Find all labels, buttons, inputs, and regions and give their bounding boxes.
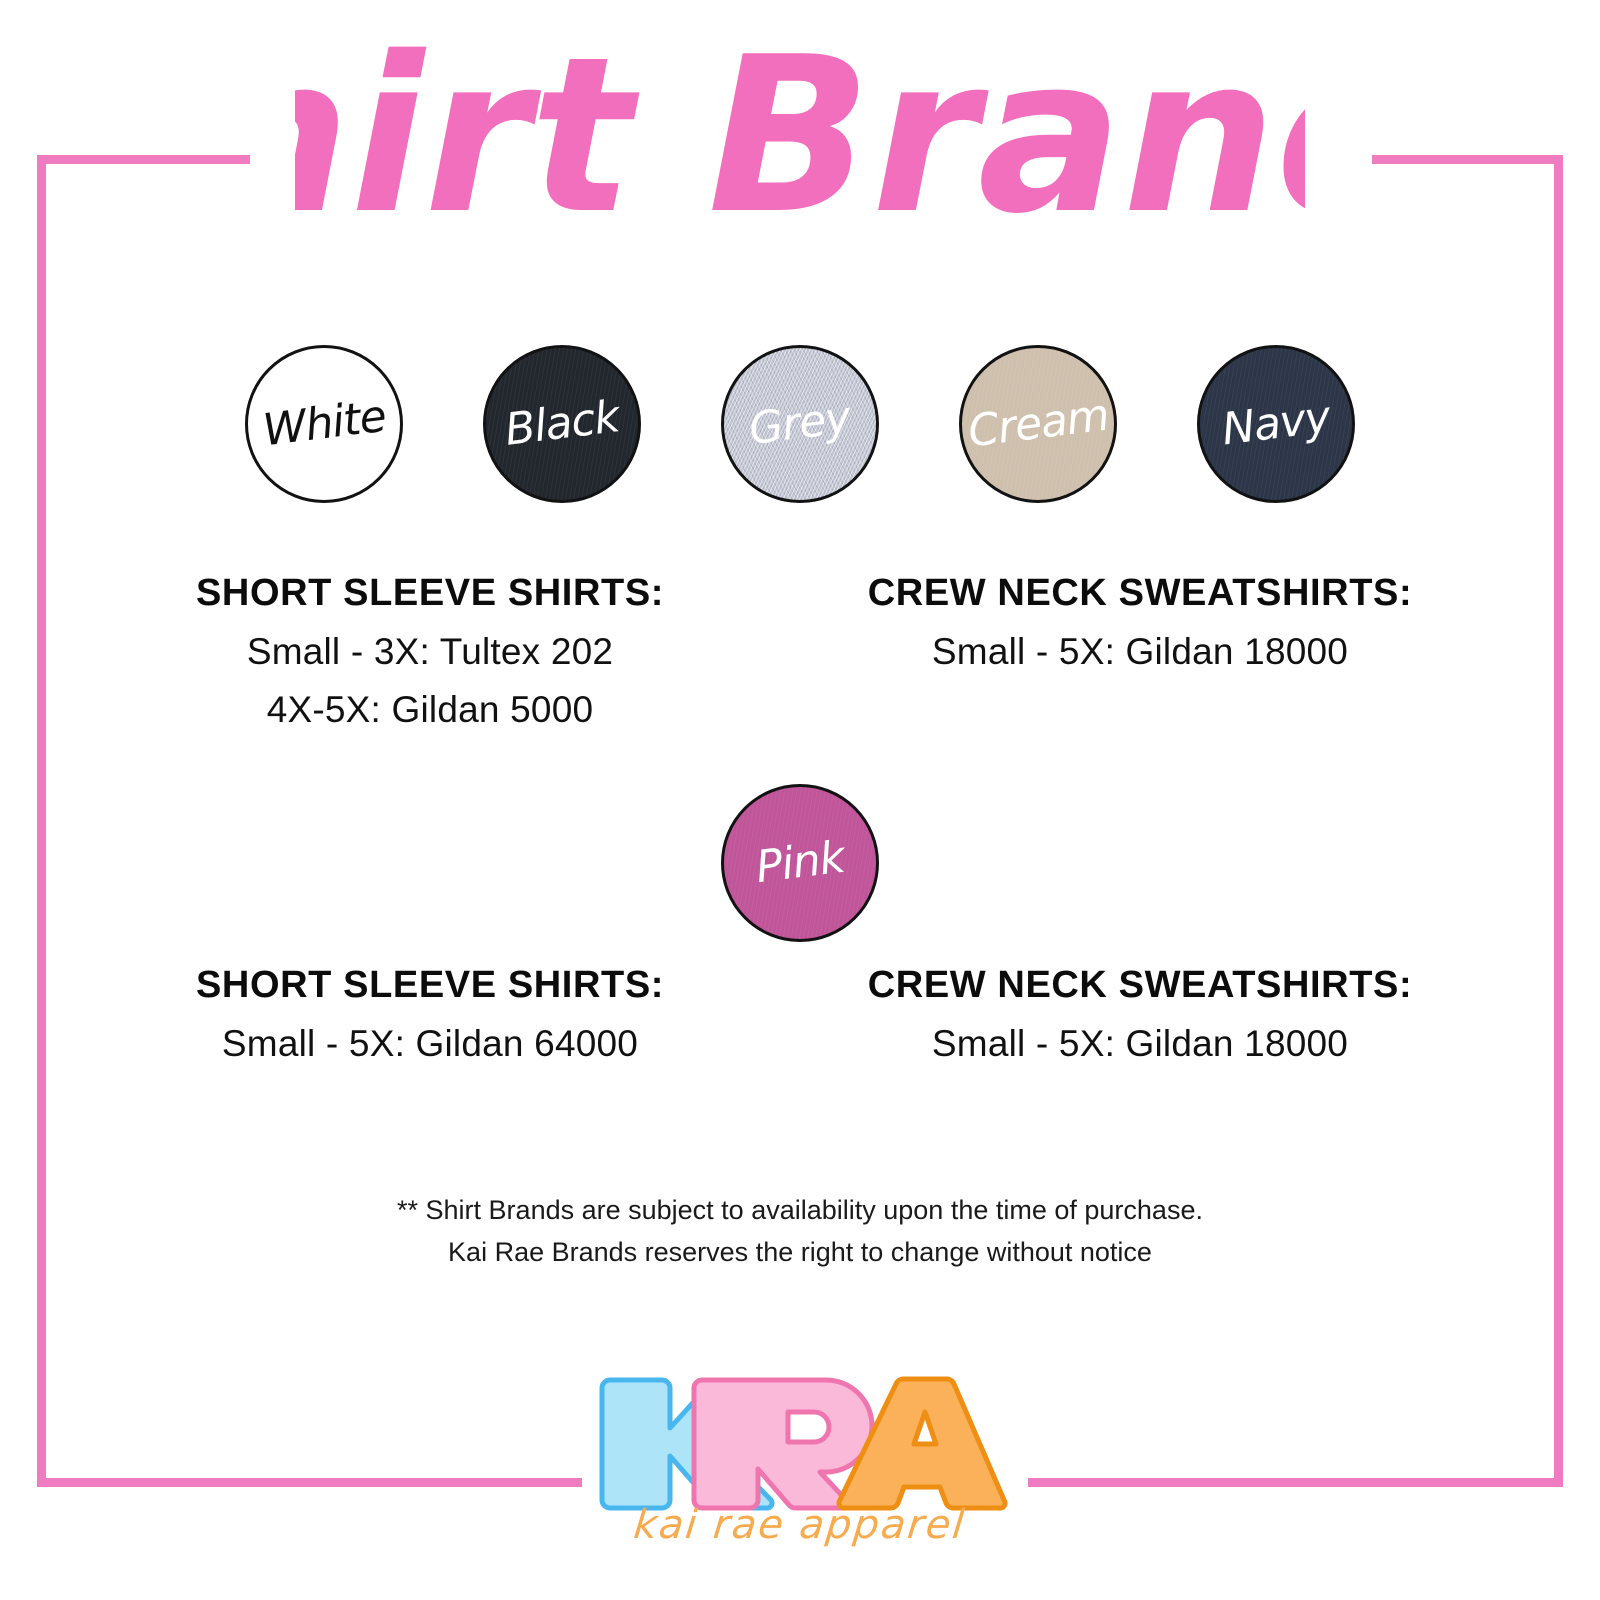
poster-canvas: Shirt Brands White Black Grey Cream Navy… <box>0 0 1600 1600</box>
page-title-text: Shirt Brands <box>295 10 1305 261</box>
short-sleeve-shirts-block-top: SHORT SLEEVE SHIRTS: Small - 3X: Tultex … <box>110 572 750 731</box>
swatch-pink[interactable]: Pink <box>721 784 879 942</box>
swatch-grey[interactable]: Grey <box>721 345 879 503</box>
short-sleeve-shirts-line-1-bottom: Small - 5X: Gildan 64000 <box>110 1023 750 1065</box>
crew-neck-sweatshirts-block-top: CREW NECK SWEATSHIRTS: Small - 5X: Gilda… <box>790 572 1490 673</box>
crew-neck-sweatshirts-heading-top: CREW NECK SWEATSHIRTS: <box>790 572 1490 615</box>
short-sleeve-shirts-line-2-top: 4X-5X: Gildan 5000 <box>110 689 750 731</box>
short-sleeve-shirts-line-1-top: Small - 3X: Tultex 202 <box>110 631 750 673</box>
short-sleeve-shirts-heading-bottom: SHORT SLEEVE SHIRTS: <box>110 964 750 1007</box>
page-title: Shirt Brands <box>0 0 1600 300</box>
disclaimer-line-2: Kai Rae Brands reserves the right to cha… <box>0 1232 1600 1274</box>
swatch-white[interactable]: White <box>245 345 403 503</box>
swatch-black-label: Black <box>503 395 622 453</box>
crew-neck-sweatshirts-block-bottom: CREW NECK SWEATSHIRTS: Small - 5X: Gilda… <box>790 964 1490 1065</box>
title-script-art: Shirt Brands <box>295 5 1305 295</box>
swatch-cream[interactable]: Cream <box>959 345 1117 503</box>
color-swatch-row-pink: Pink <box>0 784 1600 942</box>
crew-neck-sweatshirts-line-1-top: Small - 5X: Gildan 18000 <box>790 631 1490 673</box>
swatch-black[interactable]: Black <box>483 345 641 503</box>
swatch-cream-label: Cream <box>965 394 1110 455</box>
disclaimer-footnote: ** Shirt Brands are subject to availabil… <box>0 1190 1600 1274</box>
swatch-white-label: White <box>260 395 387 454</box>
swatch-navy-label: Navy <box>1220 396 1333 453</box>
crew-neck-sweatshirts-line-1-bottom: Small - 5X: Gildan 18000 <box>790 1023 1490 1065</box>
swatch-pink-label: Pink <box>754 836 847 890</box>
logo-tagline: kai rae apparel <box>632 1502 969 1548</box>
disclaimer-line-1: ** Shirt Brands are subject to availabil… <box>0 1190 1600 1232</box>
short-sleeve-shirts-heading-top: SHORT SLEEVE SHIRTS: <box>110 572 750 615</box>
swatch-grey-label: Grey <box>747 396 853 452</box>
short-sleeve-shirts-block-bottom: SHORT SLEEVE SHIRTS: Small - 5X: Gildan … <box>110 964 750 1065</box>
color-swatch-row-main: White Black Grey Cream Navy <box>0 345 1600 503</box>
kra-logo-letters <box>590 1368 1010 1518</box>
swatch-navy[interactable]: Navy <box>1197 345 1355 503</box>
brand-logo: kai rae apparel <box>0 1368 1600 1548</box>
crew-neck-sweatshirts-heading-bottom: CREW NECK SWEATSHIRTS: <box>790 964 1490 1007</box>
